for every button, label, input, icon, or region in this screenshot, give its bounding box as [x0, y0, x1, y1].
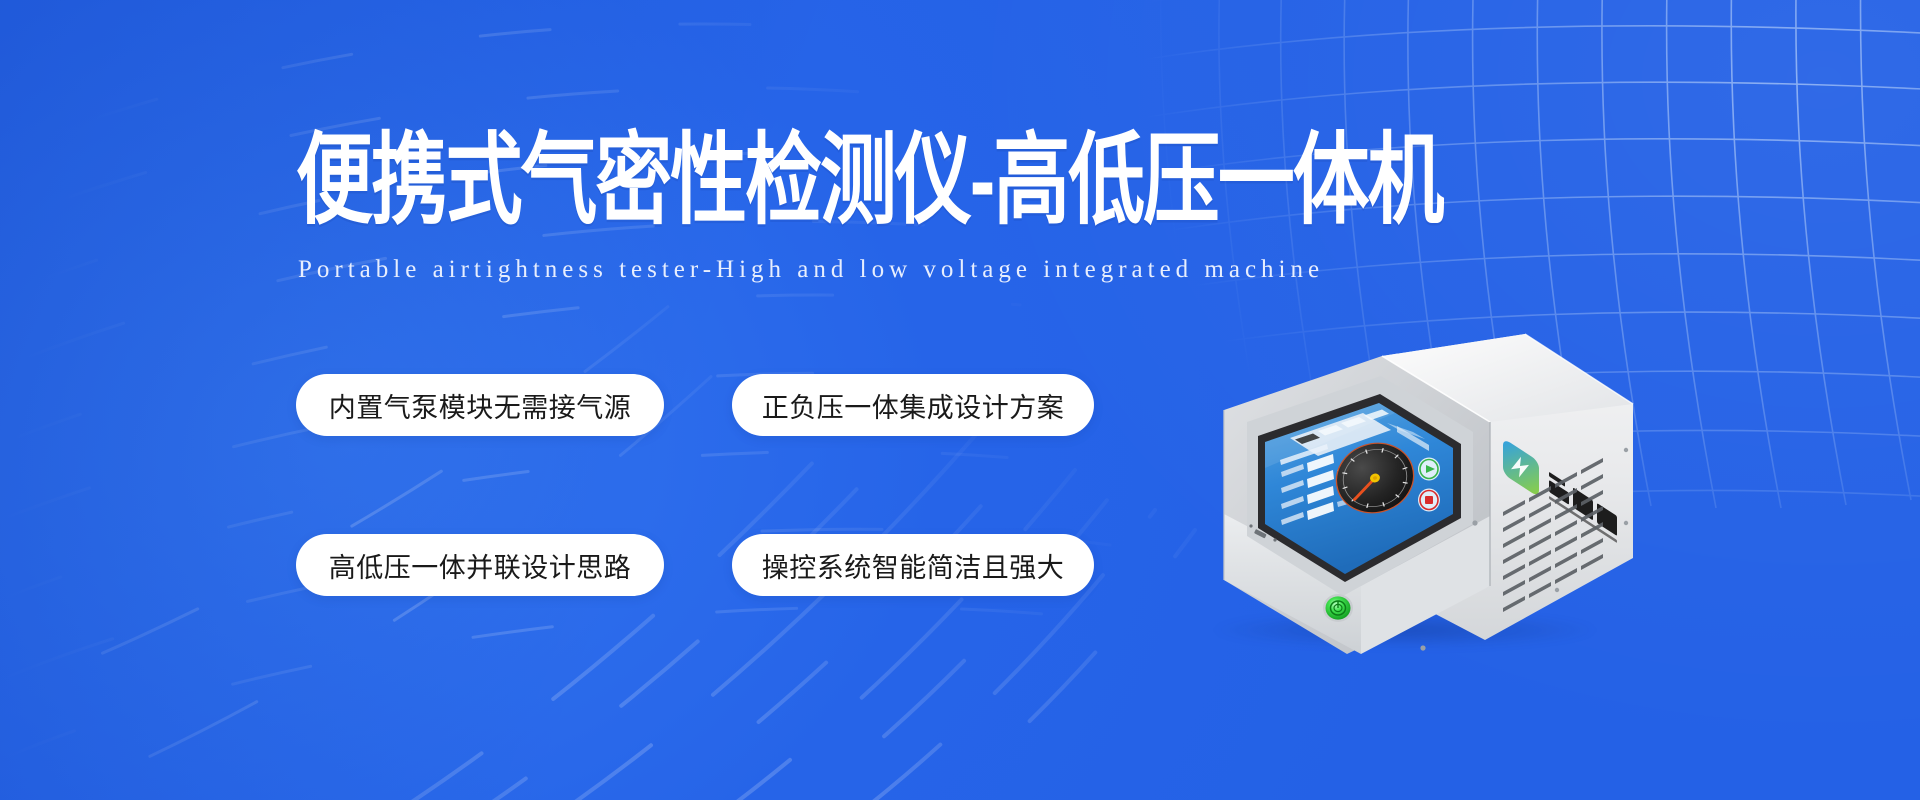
feature-pill-label: 高低压一体并联设计思路	[329, 546, 632, 585]
product-device-image	[1185, 318, 1645, 668]
stop-icon	[1425, 496, 1433, 504]
feature-pill[interactable]: 正负压一体集成设计方案	[732, 374, 1094, 436]
page-subtitle: Portable airtightness tester-High and lo…	[298, 256, 1324, 284]
promo-banner: 便携式气密性检测仪-高低压一体机 Portable airtightness t…	[0, 0, 1920, 800]
feature-pill-label: 正负压一体集成设计方案	[762, 386, 1065, 425]
feature-pill-label: 操控系统智能简洁且强大	[762, 546, 1065, 585]
screen-start-button[interactable]	[1418, 458, 1440, 481]
feature-pill[interactable]: 内置气泵模块无需接气源	[296, 374, 664, 436]
feature-pill-label: 内置气泵模块无需接气源	[329, 386, 632, 425]
screen-stop-button[interactable]	[1418, 489, 1440, 512]
page-title: 便携式气密性检测仪-高低压一体机	[296, 130, 1616, 230]
feature-pill-grid: 内置气泵模块无需接气源 正负压一体集成设计方案 高低压一体并联设计思路 操控系统…	[296, 374, 1094, 596]
feature-pill[interactable]: 操控系统智能简洁且强大	[732, 534, 1094, 596]
title-block: 便携式气密性检测仪-高低压一体机 Portable airtightness t…	[296, 130, 1636, 208]
feature-pill[interactable]: 高低压一体并联设计思路	[296, 534, 664, 596]
banner-content: 便携式气密性检测仪-高低压一体机 Portable airtightness t…	[0, 0, 1920, 800]
power-button[interactable]	[1323, 594, 1353, 622]
